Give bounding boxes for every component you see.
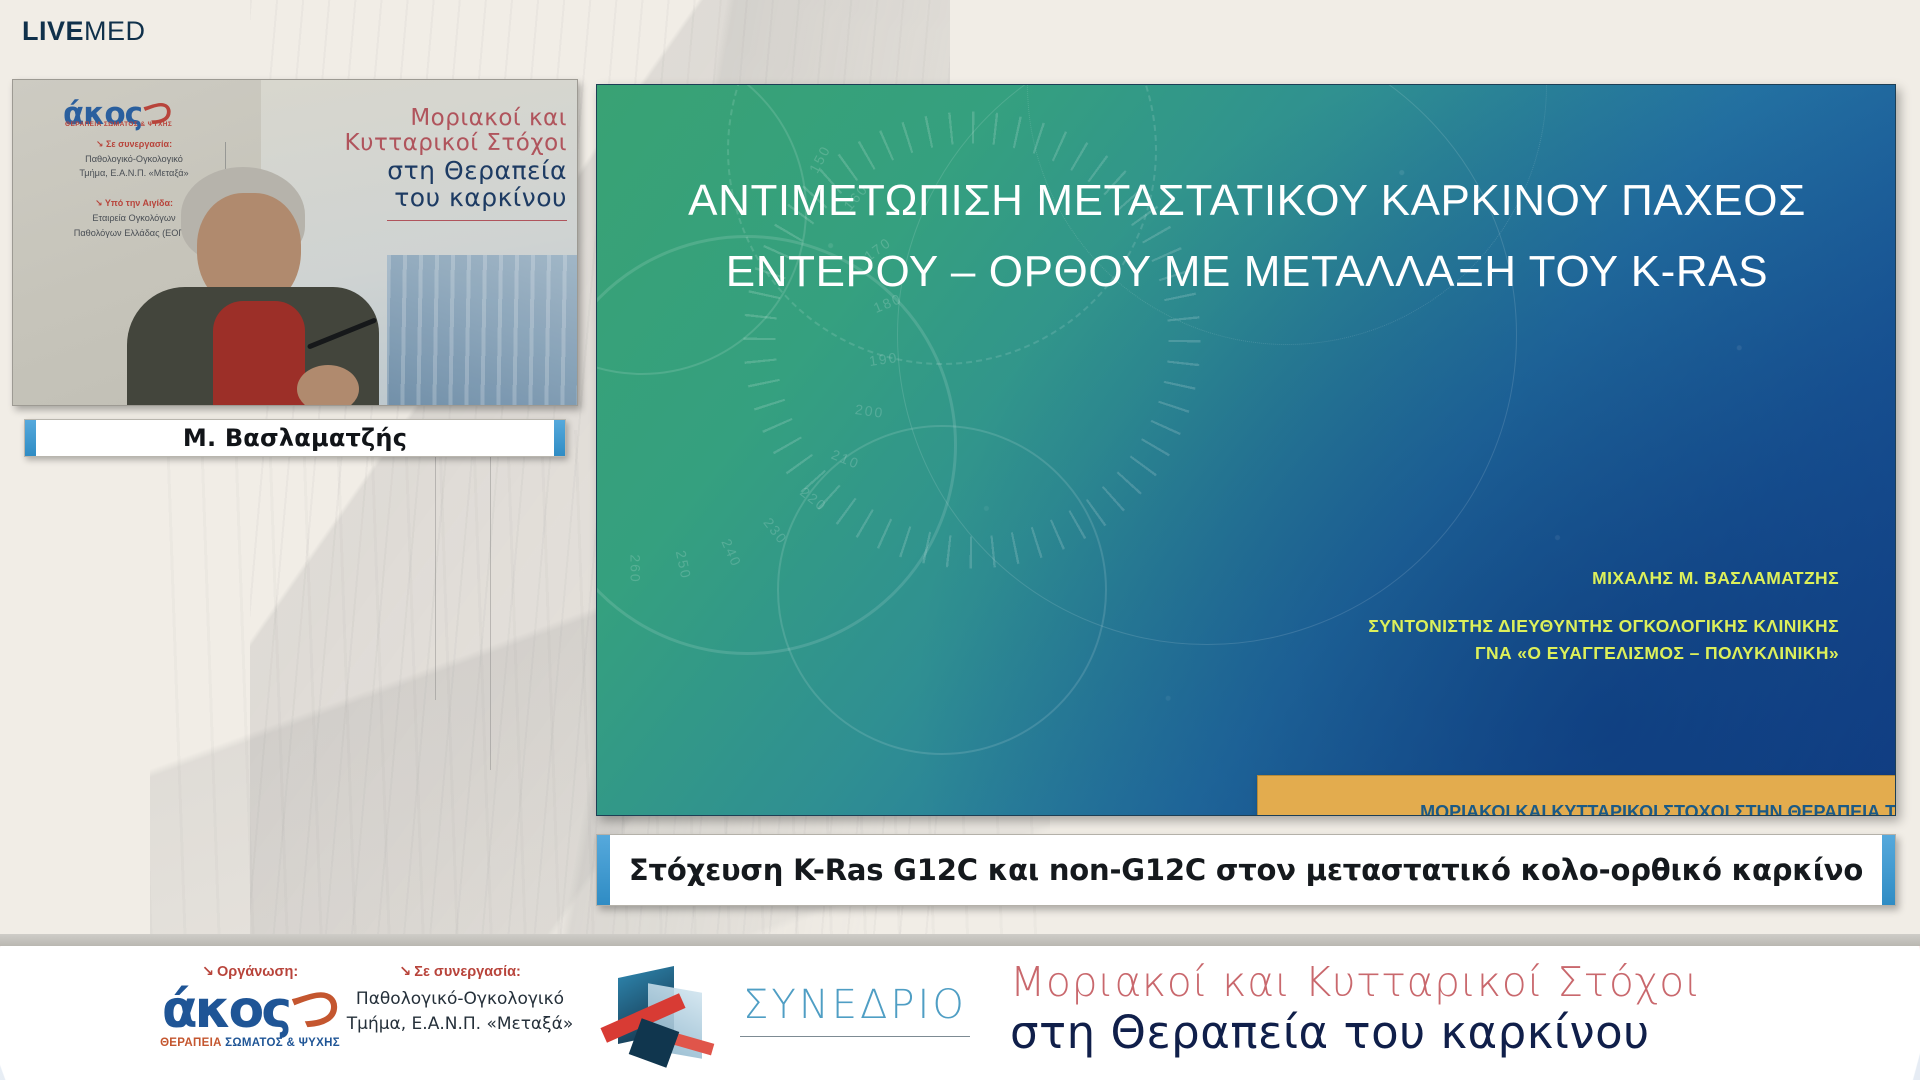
slide-title: ΑΝΤΙΜΕΤΩΠΙΣΗ ΜΕΤΑΣΤΑΤΙΚΟΥ ΚΑΡΚΙΝΟΥ ΠΑΧΕΟ… — [657, 165, 1837, 308]
name-bar-accent-left — [25, 420, 36, 456]
thumbnail-coop-tag-text: Σε συνεργασία: — [106, 139, 172, 149]
footer-event-title: Μοριακοί και Κυτταρικοί Στόχοι στη Θεραπ… — [1010, 960, 1800, 1058]
slide-author-role-1: ΣΥΝΤΟΝΙΣΤΗΣ ΔΙΕΥΘΥΝΤΗΣ ΟΓΚΟΛΟΓΙΚΗΣ ΚΛΙΝΙ… — [1079, 613, 1839, 639]
logo-med-text: MED — [84, 16, 146, 46]
caption-accent-right — [1882, 835, 1895, 905]
arrow-down-right-icon: ↘ — [96, 139, 104, 149]
arrow-down-right-icon-3: ↘ — [202, 964, 214, 980]
footer-congress: ΣΥΝΕΔΡΙΟ — [740, 982, 970, 1037]
name-bar-accent-right — [554, 420, 565, 456]
logo-live-text: LIVE — [22, 16, 84, 46]
screen-root: LIVEMED άκοςつ ΘΕΡΑΠΕΙΑ ΣΩΜΑΤΟΣ & ΨΥΧΗΣ ↘… — [0, 0, 1920, 1080]
dial-number-6: 210 — [829, 446, 862, 472]
footer-coop-line-2: Τμήμα, Ε.Α.Ν.Π. «Μεταξά» — [330, 1012, 590, 1037]
speaker-hand — [297, 365, 359, 406]
background-line-2 — [490, 440, 491, 770]
speaker-shirt — [213, 301, 305, 406]
thumbnail-poster-image — [387, 255, 577, 405]
sponsor-footer: ↘Οργάνωση: άκοςつ ΘΕΡΑΠΕΙΑ ΣΩΜΑΤΟΣ & ΨΥΧΗ… — [0, 946, 1920, 1080]
footer-coop-tag-text: Σε συνεργασία: — [414, 964, 521, 980]
footer-cooperation: ↘Σε συνεργασία: Παθολογικό-Ογκολογικό Τμ… — [330, 964, 590, 1036]
akos-logo-text: άκος — [162, 980, 289, 1040]
footer-event-title-line-1: Μοριακοί και Κυτταρικοί Στόχοι — [1010, 960, 1800, 1006]
dial-number-5: 200 — [854, 401, 885, 421]
talk-caption-bar: Στόχευση K-Ras G12C και non-G12C στον με… — [596, 834, 1896, 906]
poster-line-1: Μοριακοί και — [267, 106, 567, 131]
speaker-photo — [121, 159, 391, 406]
akos-logo-subtitle: ΘΕΡΑΠΕΙΑ ΣΩΜΑΤΟΣ & ΨΥΧΗΣ — [135, 1037, 365, 1049]
footer-organizer-tag-text: Οργάνωση: — [217, 964, 298, 980]
presentation-slide[interactable]: 150 160 170 180 190 200 210 220 230 240 … — [596, 84, 1896, 816]
video-thumbnail[interactable]: άκοςつ ΘΕΡΑΠΕΙΑ ΣΩΜΑΤΟΣ & ΨΥΧΗΣ ↘ Σε συνε… — [12, 79, 578, 406]
background-line-1 — [435, 440, 436, 700]
slide-event-banner: ΜΟΡΙΑΚΟΙ ΚΑΙ ΚΥΤΤΑΡΙΚΟΙ ΣΤΟΧΟΙ ΣΤΗΝ ΘΕΡΑ… — [1257, 775, 1896, 816]
livemed-logo: LIVEMED — [22, 16, 146, 47]
congress-graphic-icon — [600, 962, 720, 1072]
dial-number-8: 230 — [760, 515, 791, 548]
caption-accent-left — [597, 835, 610, 905]
slide-author-role-2: ΓΝΑ «Ο ΕΥΑΓΓΕΛΙΣΜΟΣ – ΠΟΛΥΚΛΙΝΙΚΗ» — [1079, 640, 1839, 666]
speaker-name-text: Μ. Βασλαματζής — [183, 424, 407, 452]
akos-subtitle-red: ΘΕΡΑΠΕΙΑ — [160, 1037, 225, 1049]
dial-number-4: 190 — [868, 349, 899, 369]
footer-congress-word: ΣΥΝΕΔΡΙΟ — [740, 982, 970, 1028]
slide-event-line-1: ΜΟΡΙΑΚΟΙ ΚΑΙ ΚΥΤΤΑΡΙΚΟΙ ΣΤΟΧΟΙ ΣΤΗΝ ΘΕΡΑ… — [1420, 795, 1896, 816]
footer-congress-rule — [740, 1036, 970, 1037]
footer-event-title-line-2: στη Θεραπεία του καρκίνου — [1010, 1008, 1800, 1058]
dial-number-7: 220 — [797, 484, 830, 515]
akos-subtitle-blue: ΣΩΜΑΤΟΣ & ΨΥΧΗΣ — [225, 1037, 340, 1049]
footer-coop-body: Παθολογικό-Ογκολογικό Τμήμα, Ε.Α.Ν.Π. «Μ… — [330, 987, 590, 1036]
poster-divider — [387, 220, 567, 221]
footer-separator — [0, 934, 1920, 946]
slide-author-block: ΜΙΧΑΛΗΣ Μ. ΒΑΣΛΑΜΑΤΖΗΣ ΣΥΝΤΟΝΙΣΤΗΣ ΔΙΕΥΘ… — [1079, 565, 1839, 666]
speaker-name-bar: Μ. Βασλαματζής — [24, 419, 566, 457]
thumbnail-coop-tag: ↘ Σε συνεργασία: — [49, 138, 219, 152]
arrow-down-right-icon-4: ↘ — [399, 964, 411, 980]
slide-author-name: ΜΙΧΑΛΗΣ Μ. ΒΑΣΛΑΜΑΤΖΗΣ — [1079, 565, 1839, 591]
talk-caption-text: Στόχευση K-Ras G12C και non-G12C στον με… — [629, 853, 1863, 887]
arrow-down-right-icon-2: ↘ — [95, 198, 103, 208]
dial-number-11: 260 — [628, 554, 644, 583]
footer-coop-line-1: Παθολογικό-Ογκολογικό — [330, 987, 590, 1012]
thumbnail-akos-subtitle: ΘΕΡΑΠΕΙΑ ΣΩΜΑΤΟΣ & ΨΥΧΗΣ — [65, 121, 172, 128]
poster-line-2: Κυτταρικοί Στόχοι — [267, 131, 567, 156]
footer-coop-tag: ↘Σε συνεργασία: — [330, 964, 590, 980]
